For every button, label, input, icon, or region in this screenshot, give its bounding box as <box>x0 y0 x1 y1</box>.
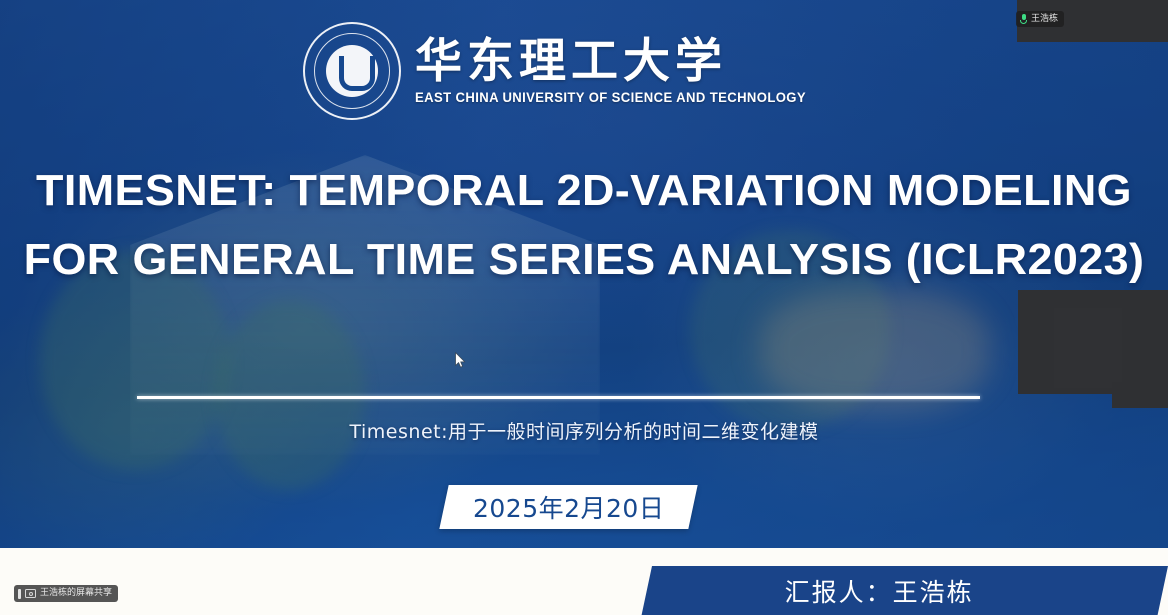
presentation-slide: 华东理工大学 EAST CHINA UNIVERSITY OF SCIENCE … <box>0 0 1168 548</box>
slide-title: TIMESNET: TEMPORAL 2D-VARIATION MODELING… <box>0 168 1168 283</box>
university-logo: 华东理工大学 EAST CHINA UNIVERSITY OF SCIENCE … <box>303 16 839 126</box>
participant-name-badge: 王浩栋 <box>1016 11 1064 27</box>
university-name-en: EAST CHINA UNIVERSITY OF SCIENCE AND TEC… <box>415 90 806 105</box>
participant-video-tile[interactable] <box>1112 382 1168 408</box>
background-foliage <box>215 300 365 490</box>
participant-video-tile[interactable] <box>1054 308 1122 388</box>
title-line-1: TIMESNET: TEMPORAL 2D-VARIATION MODELING <box>0 168 1168 213</box>
microphone-icon <box>1020 14 1027 24</box>
screen-share-badge: 王浩栋的屏幕共享 <box>14 585 118 602</box>
university-seal-icon <box>303 22 401 120</box>
participant-name-label: 王浩栋 <box>1031 15 1058 24</box>
screen-share-view: 华东理工大学 EAST CHINA UNIVERSITY OF SCIENCE … <box>0 0 1168 615</box>
slide-date-chip: 2025年2月20日 <box>439 485 697 529</box>
presenter-banner: 汇报人：王浩栋 <box>642 566 1168 615</box>
university-name-cn: 华东理工大学 <box>415 37 818 88</box>
title-line-2: FOR GENERAL TIME SERIES ANALYSIS (ICLR20… <box>0 237 1168 282</box>
screen-share-label: 王浩栋的屏幕共享 <box>40 589 112 598</box>
title-divider-rule <box>137 396 980 399</box>
background-highlight <box>760 290 990 410</box>
presenter-name-text: 汇报人：王浩栋 <box>785 573 974 609</box>
university-logo-text: 华东理工大学 EAST CHINA UNIVERSITY OF SCIENCE … <box>415 37 818 106</box>
screen-share-icon <box>25 589 36 598</box>
slide-subtitle: Timesnet:用于一般时间序列分析的时间二维变化建模 <box>0 417 1168 444</box>
slide-date-text: 2025年2月20日 <box>473 489 664 525</box>
pause-bar-icon <box>18 589 21 599</box>
